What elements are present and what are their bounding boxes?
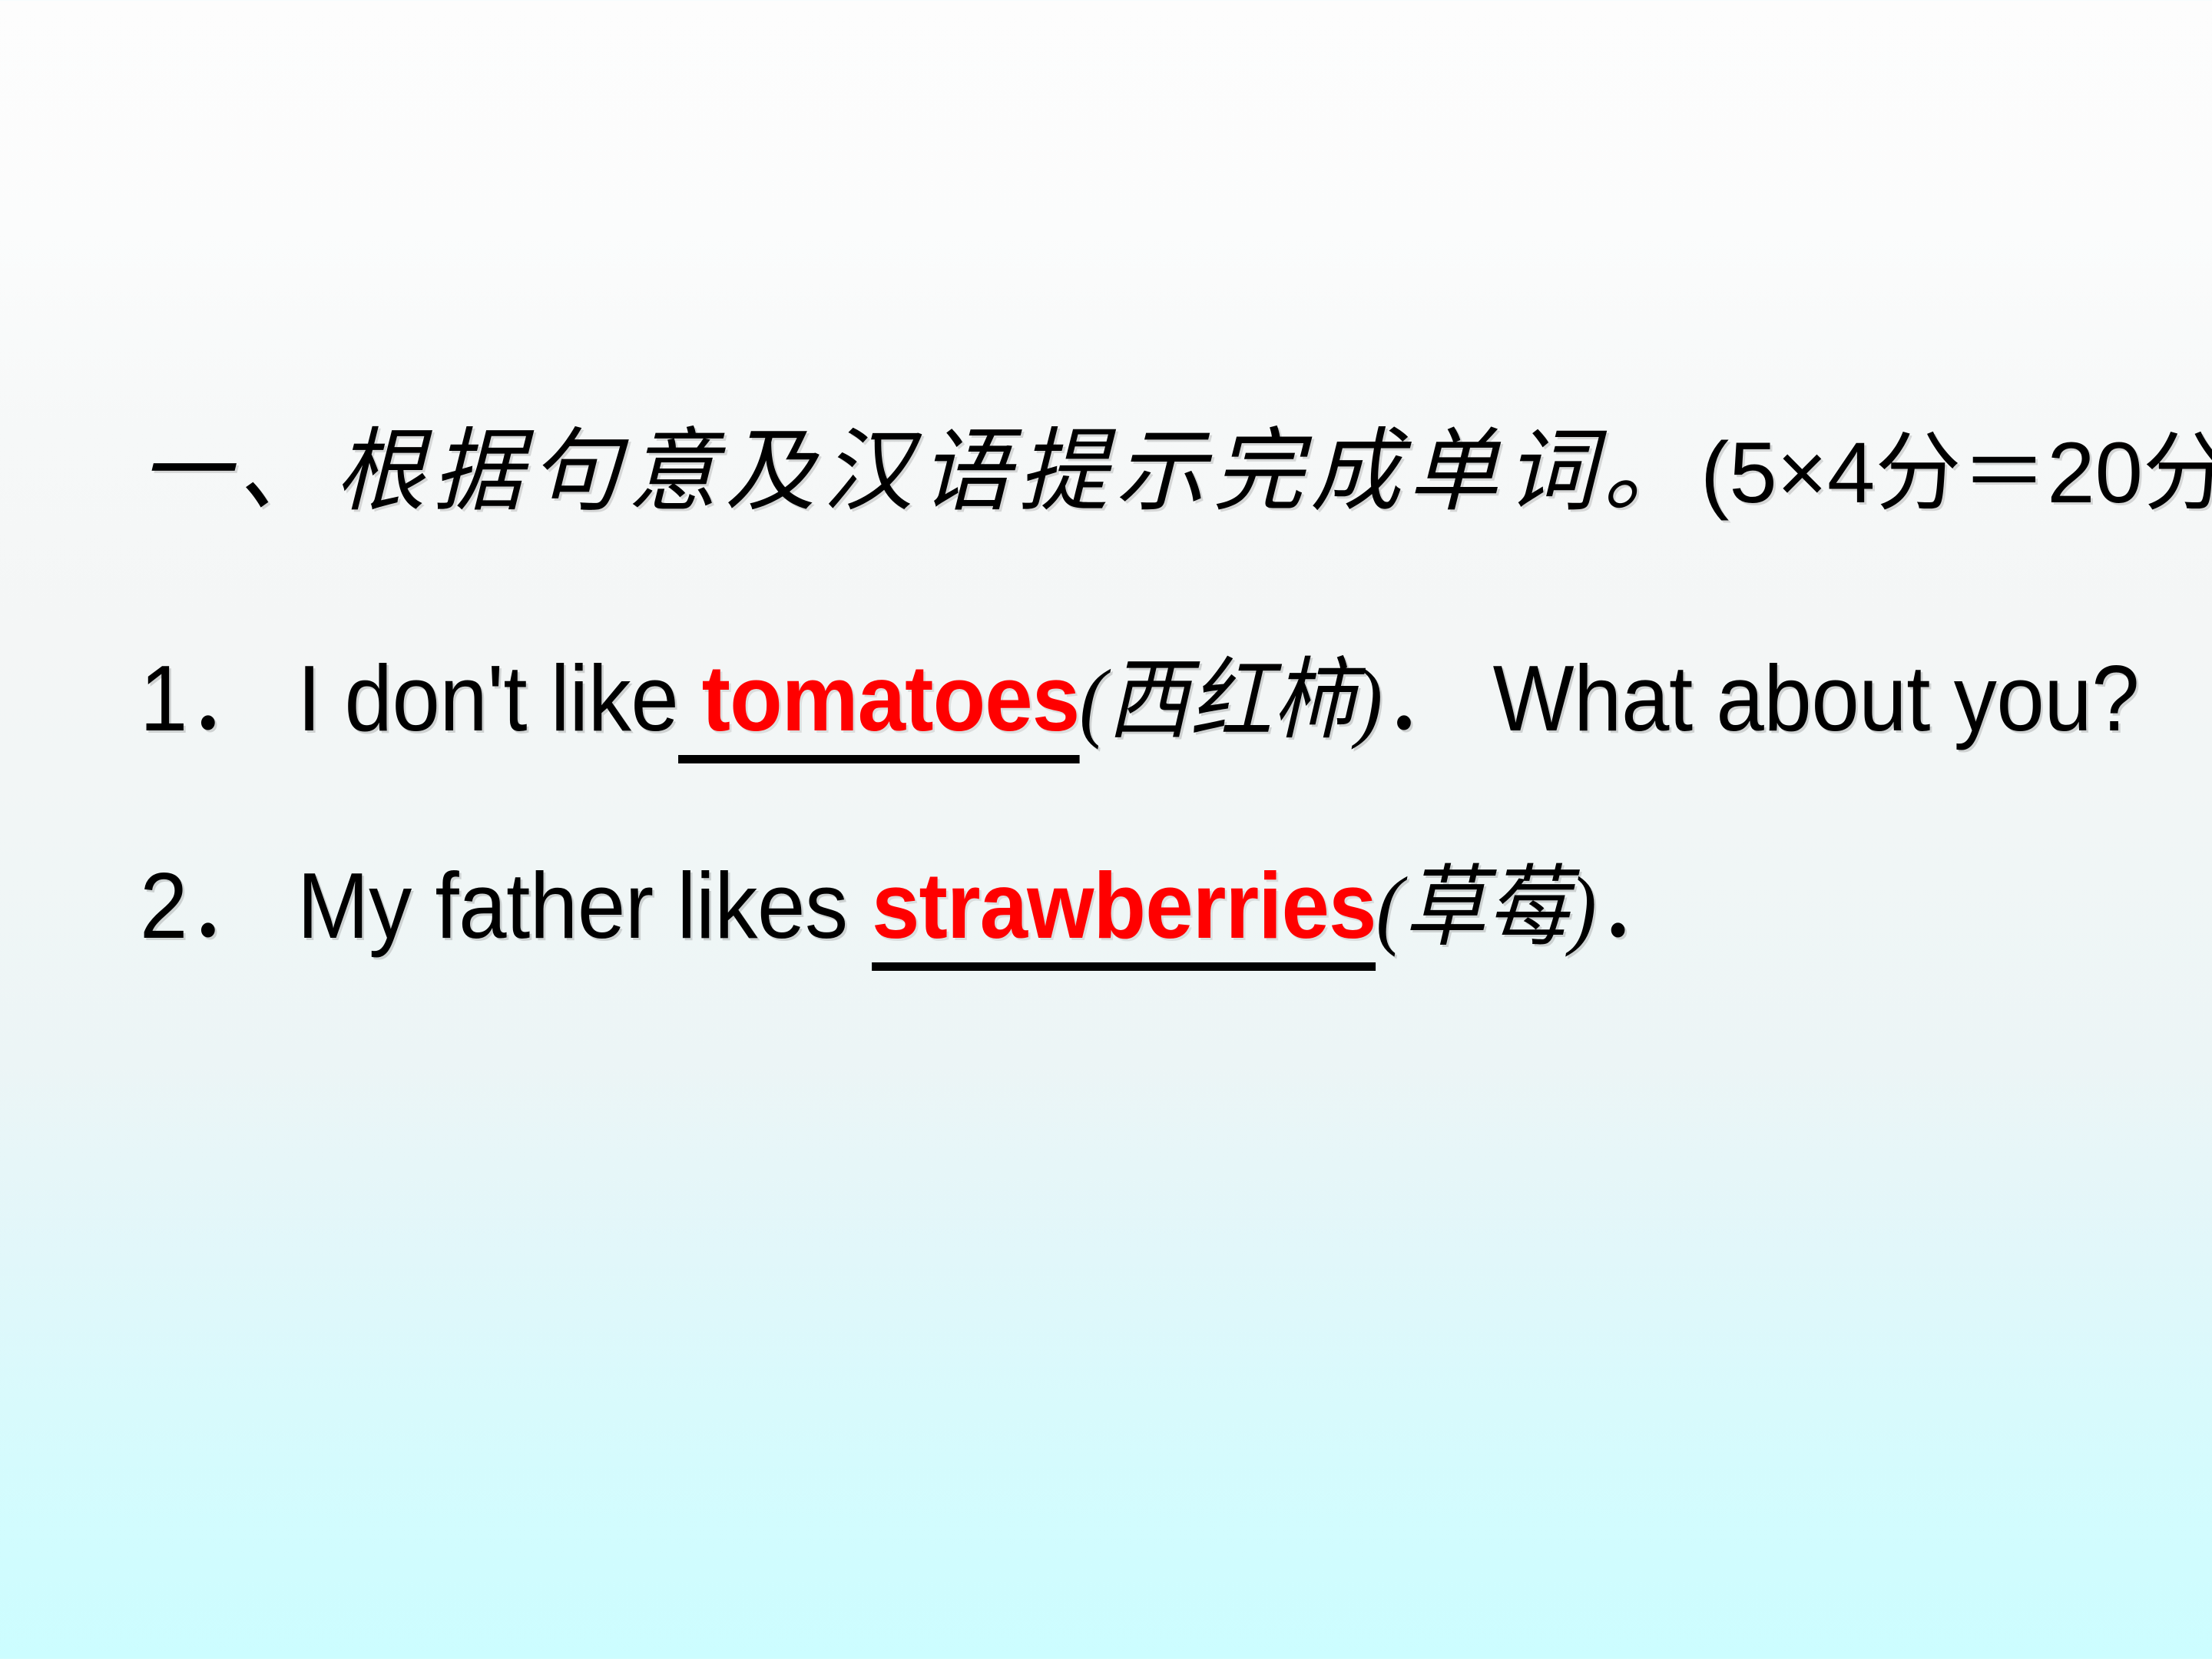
question-number-1: 1． bbox=[140, 646, 273, 750]
answer-blank-2[interactable]: strawberries bbox=[872, 853, 1376, 971]
question-number-2: 2． bbox=[140, 853, 273, 958]
chinese-gloss-1: (西红柿) bbox=[1079, 652, 1383, 750]
question-item-2: 2．My father likesstrawberries(草莓)． bbox=[140, 859, 2034, 953]
question-text-after-1: ． What about you? bbox=[1383, 646, 2139, 750]
slide-canvas: 一、根据句意及汉语提示完成单词。(5×4分＝20分) 1．I don't lik… bbox=[0, 0, 2212, 1659]
section-score-note: (5×4分＝20分) bbox=[1700, 425, 2212, 521]
chinese-gloss-2: (草莓) bbox=[1376, 859, 1597, 958]
section-instruction: 根据句意及汉语提示完成单词。 bbox=[335, 422, 1700, 522]
section-heading: 一、根据句意及汉语提示完成单词。(5×4分＝20分) bbox=[140, 427, 2167, 518]
question-text-before-2: My father likes bbox=[297, 853, 848, 958]
section-marker: 一、 bbox=[140, 422, 335, 522]
question-text-after-2: ． bbox=[1598, 853, 1684, 958]
answer-blank-1[interactable]: tomatoes bbox=[678, 646, 1079, 763]
question-item-1: 1．I don't liketomatoes(西红柿)． What about … bbox=[140, 651, 2034, 746]
question-text-before-1: I don't like bbox=[297, 646, 678, 750]
